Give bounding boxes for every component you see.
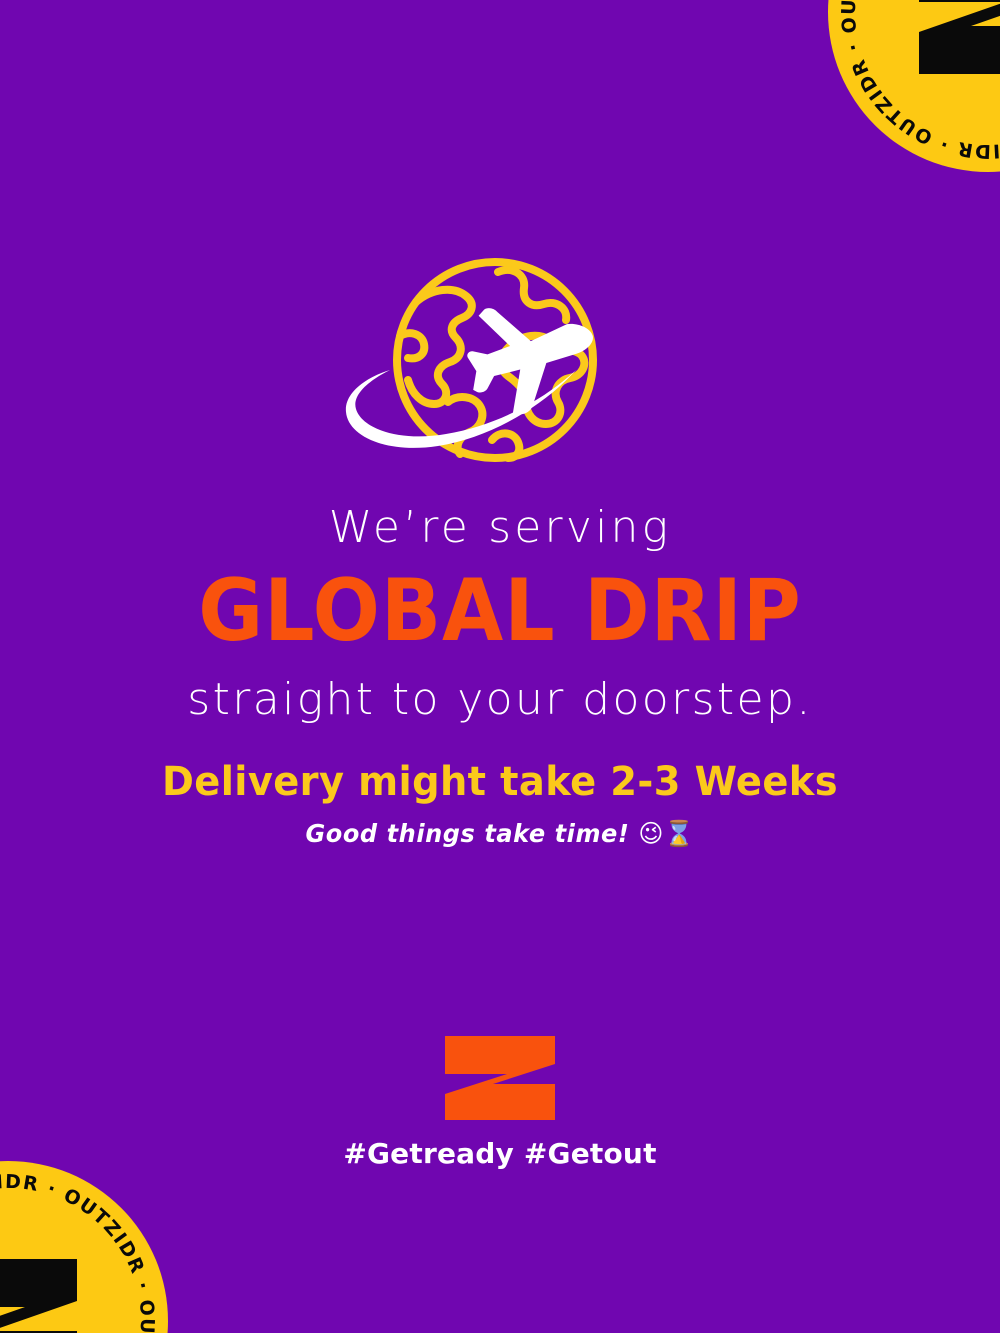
headline-sub: straight to your doorstep. (0, 678, 1000, 722)
promo-poster: OUTZIDR · OUTZIDR · OUTZIDR · OUTZIDR · … (0, 0, 1000, 1333)
headline-main: GLOBAL DRIP (40, 568, 960, 654)
brand-badge-bottom-left: OUTZIDR · OUTZIDR · OUTZIDR · OUTZIDR · … (0, 1161, 168, 1333)
footer-brand-block: #Getready #Getout (0, 1036, 1000, 1168)
brand-badge-top-right: OUTZIDR · OUTZIDR · OUTZIDR · OUTZIDR · … (828, 0, 1000, 172)
badge-core-top-right: OUTZIDR (895, 0, 1000, 105)
badge-z-mark-bottom-left (0, 1255, 83, 1333)
brand-tagline: #Getready #Getout (343, 1140, 656, 1168)
delivery-note-block: Delivery might take 2-3 Weeks Good thing… (0, 762, 1000, 846)
hourglass-emoji: ⌛ (664, 819, 694, 848)
outzidr-z-logo (445, 1036, 555, 1120)
delivery-reassurance-text: Good things take time! 😉⌛ (20, 821, 980, 846)
headline-kicker: We’re serving (0, 506, 1000, 550)
delivery-reassurance-label: Good things take time! (306, 819, 630, 848)
wink-face-emoji: 😉 (638, 819, 664, 848)
globe-airplane-icon (330, 252, 670, 478)
delivery-time-text: Delivery might take 2-3 Weeks (20, 762, 980, 802)
badge-core-bottom-left: OUTZIDR (0, 1228, 101, 1333)
badge-z-mark-top-right (913, 0, 1000, 78)
headline-block: We’re serving GLOBAL DRIP straight to yo… (0, 506, 1000, 722)
